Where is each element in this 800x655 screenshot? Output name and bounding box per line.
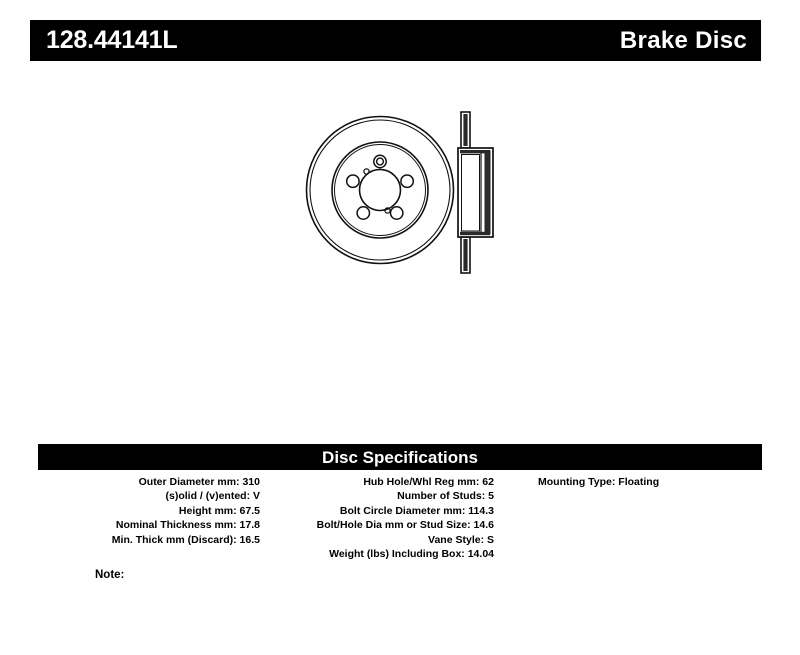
spec-item: Vane Style: S <box>264 533 494 547</box>
spec-columns: Outer Diameter mm: 310 (s)olid / (v)ente… <box>38 475 762 561</box>
brake-rotor-cross-section-view <box>458 112 493 273</box>
spec-item: Bolt Circle Diameter mm: 114.3 <box>264 504 494 518</box>
spec-item: Nominal Thickness mm: 17.8 <box>38 518 260 532</box>
spec-item: Outer Diameter mm: 310 <box>38 475 260 489</box>
spec-item: Bolt/Hole Dia mm or Stud Size: 14.6 <box>264 518 494 532</box>
spec-column-left: Outer Diameter mm: 310 (s)olid / (v)ente… <box>38 475 264 561</box>
header-bar: 128.44141L Brake Disc <box>30 20 761 61</box>
spec-title: Disc Specifications <box>322 449 478 466</box>
spec-item: (s)olid / (v)ented: V <box>38 489 260 503</box>
part-number: 128.44141L <box>46 28 177 53</box>
spec-item: Weight (lbs) Including Box: 14.04 <box>264 547 494 561</box>
spec-item: Hub Hole/Whl Reg mm: 62 <box>264 475 494 489</box>
spec-item: Number of Studs: 5 <box>264 489 494 503</box>
spec-column-right: Mounting Type: Floating <box>498 475 762 561</box>
spec-item: Height mm: 67.5 <box>38 504 260 518</box>
product-type-label: Brake Disc <box>620 29 747 53</box>
brake-rotor-face-view <box>307 117 454 264</box>
spec-title-bar: Disc Specifications <box>38 444 762 470</box>
spec-item: Min. Thick mm (Discard): 16.5 <box>38 533 260 547</box>
brake-disc-illustration <box>295 100 515 285</box>
note-label: Note: <box>95 570 124 582</box>
spec-column-middle: Hub Hole/Whl Reg mm: 62 Number of Studs:… <box>264 475 498 561</box>
spec-item: Mounting Type: Floating <box>538 475 762 489</box>
